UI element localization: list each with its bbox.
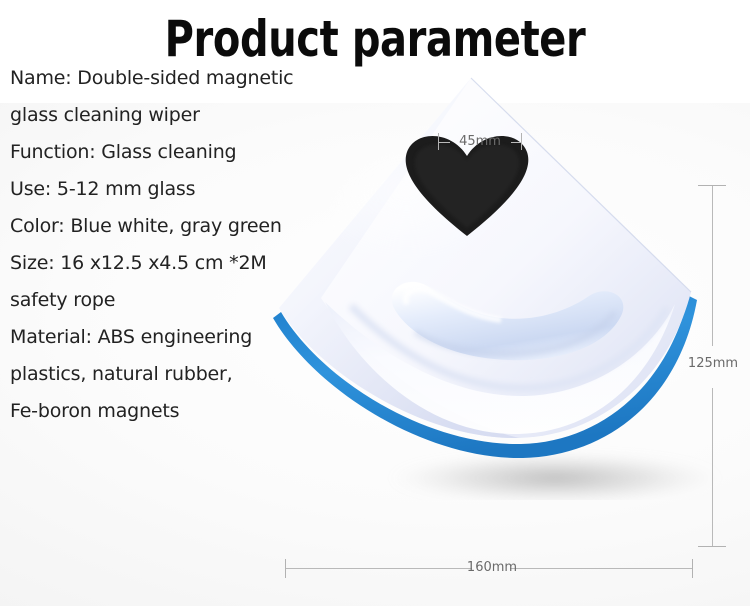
product-parameter-page: Product parameter Name: Double-sided mag… xyxy=(0,0,750,606)
dimension-height-right: 125mm xyxy=(686,180,746,552)
product-image xyxy=(255,60,725,500)
dim-45-line-right xyxy=(511,142,522,143)
dim-160-label: 160mm xyxy=(464,560,520,575)
dim-125-line-bottom xyxy=(712,388,713,546)
page-title: Product parameter xyxy=(75,11,675,67)
dim-45-label: 45mm xyxy=(448,134,512,149)
dim-160-line-left xyxy=(286,568,472,569)
dim-125-label: 125mm xyxy=(684,356,742,371)
dim-160-line-right xyxy=(510,568,692,569)
dimension-width-bottom: 160mm xyxy=(278,552,702,586)
dimension-width-top: 45mm xyxy=(432,128,528,158)
dim-160-tick-right xyxy=(692,559,693,578)
product-shadow xyxy=(390,452,720,500)
dim-125-tick-bottom xyxy=(698,546,726,547)
dim-125-line-top xyxy=(712,186,713,346)
product-illustration-svg xyxy=(255,60,725,500)
